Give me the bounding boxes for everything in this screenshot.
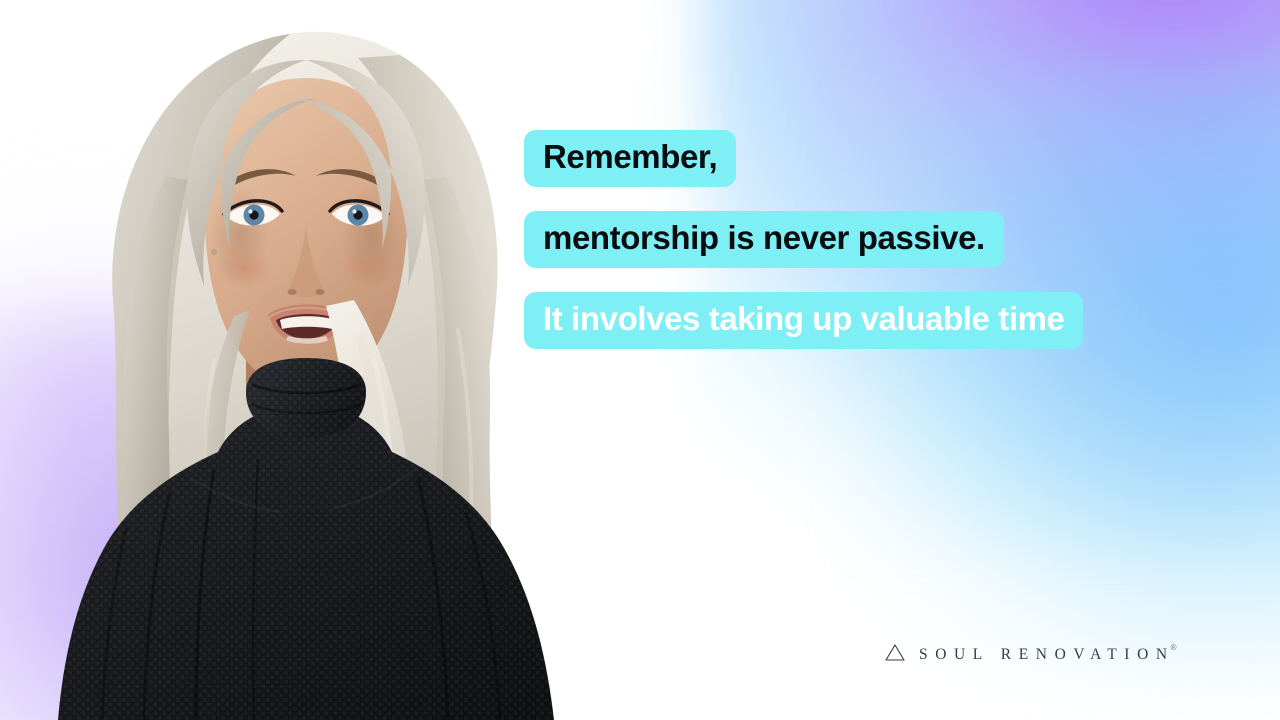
caption-stack: Remember, mentorship is never passive. I…	[524, 130, 1083, 349]
brand-logo: SOUL RENOVATION ®	[884, 643, 1177, 667]
triangle-outline-icon	[884, 643, 906, 667]
presenter-portrait	[18, 0, 578, 720]
brand-trademark-mark: ®	[1171, 644, 1177, 652]
caption-line-2: mentorship is never passive.	[524, 211, 1004, 268]
video-slide-canvas: Remember, mentorship is never passive. I…	[0, 0, 1280, 720]
brand-name-text: SOUL RENOVATION	[919, 646, 1175, 664]
caption-line-3: It involves taking up valuable time	[524, 292, 1083, 349]
earring	[211, 249, 217, 255]
caption-line-1: Remember,	[524, 130, 736, 187]
